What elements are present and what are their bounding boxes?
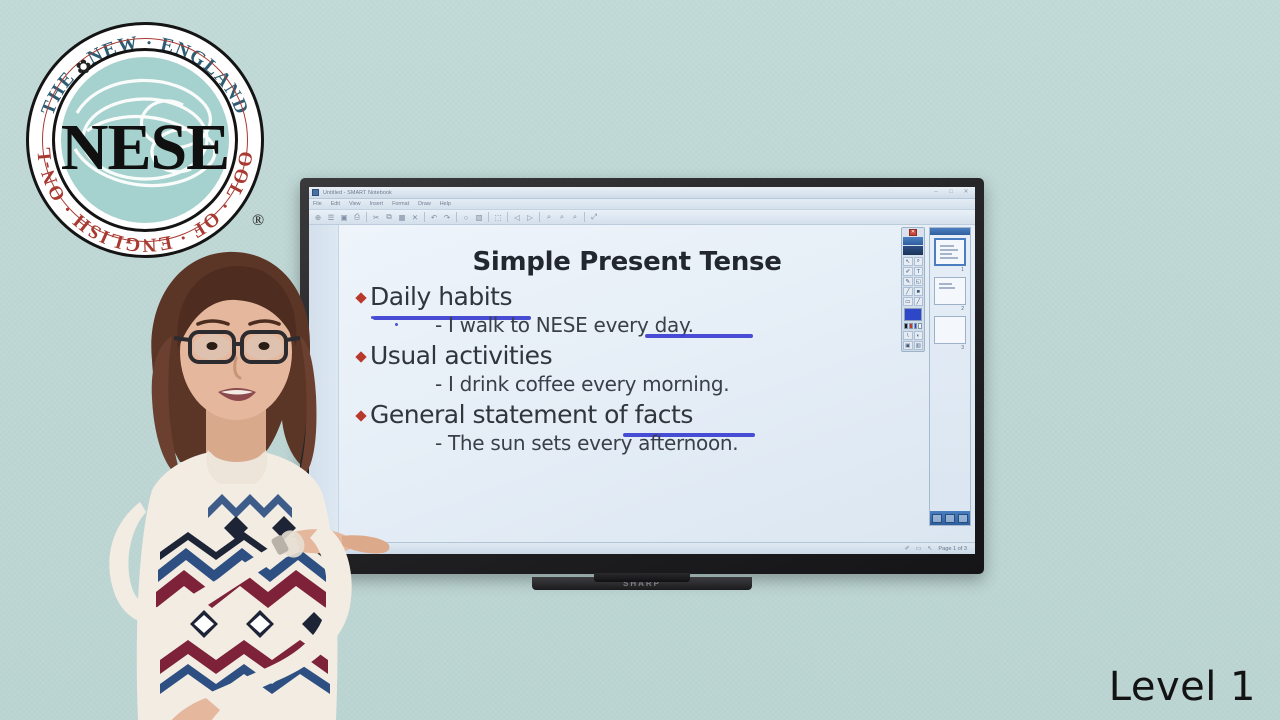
interactive-display: Untitled - SMART Notebook – □ ✕ File Edi… bbox=[300, 178, 984, 574]
toolbar-separator bbox=[539, 212, 540, 222]
diamond-bullet-icon bbox=[355, 410, 366, 421]
palette-tool-grid: ↖ ⌕ ✐ T ✎ ◱ ╱ ■ ▭ ╱ bbox=[903, 257, 923, 306]
display-screen: Untitled - SMART Notebook – □ ✕ File Edi… bbox=[309, 187, 975, 554]
menu-file[interactable]: File bbox=[313, 201, 322, 207]
redo-icon[interactable]: ↷ bbox=[441, 211, 453, 223]
menu-format[interactable]: Format bbox=[392, 201, 409, 207]
shape-tool[interactable]: ◱ bbox=[914, 277, 924, 286]
full-screen-icon[interactable]: ⤢ bbox=[588, 211, 600, 223]
level-caption: Level 1 bbox=[1109, 664, 1256, 710]
fill-tool[interactable]: ■ bbox=[914, 287, 924, 296]
toolbar-separator bbox=[507, 212, 508, 222]
paste-icon[interactable]: ▦ bbox=[396, 211, 408, 223]
attachments-button[interactable] bbox=[958, 514, 968, 523]
page-thumbnail-3[interactable] bbox=[934, 316, 966, 344]
page-sorter-panel[interactable]: 1 2 bbox=[929, 227, 971, 526]
work-area: Simple Present Tense Daily habits - I bbox=[309, 225, 975, 542]
opacity-tool[interactable]: ◐ bbox=[914, 331, 924, 340]
select-status-icon[interactable]: ↖ bbox=[927, 545, 932, 552]
print-icon[interactable]: ⎙ bbox=[351, 211, 363, 223]
highlighter-tool[interactable]: ╱ bbox=[903, 287, 913, 296]
pen-tool[interactable]: ✐ bbox=[903, 267, 913, 276]
bullet-example-3: - The sun sets every afternoon. bbox=[435, 431, 957, 455]
nese-logo: THE · NEW · ENGLAND SCHOOL · OF · ENGLIS… bbox=[26, 22, 266, 258]
screen-shade-icon[interactable]: ▧ bbox=[473, 211, 485, 223]
close-button[interactable]: ✕ bbox=[962, 189, 970, 196]
toolbar-separator bbox=[488, 212, 489, 222]
maximize-button[interactable]: □ bbox=[947, 189, 955, 196]
page-sorter-titlebar[interactable] bbox=[930, 228, 970, 235]
smart-notebook-window: Untitled - SMART Notebook – □ ✕ File Edi… bbox=[309, 187, 975, 554]
bullet-label-2: Usual activities bbox=[370, 342, 552, 370]
registered-trademark: ® bbox=[252, 212, 264, 230]
undo-icon[interactable]: ↶ bbox=[428, 211, 440, 223]
ink-underline-every-day bbox=[645, 334, 753, 338]
main-toolbar: ⊕ ☰ ▣ ⎙ ✂ ⧉ ▦ ✕ ↶ ↷ ○ ▧ bbox=[309, 210, 975, 225]
toolbar-separator bbox=[366, 212, 367, 222]
page-number-1: 1 bbox=[934, 266, 966, 273]
bullet-row-3: General statement of facts bbox=[351, 401, 957, 429]
current-color-swatch[interactable] bbox=[904, 308, 922, 321]
diamond-bullet-icon bbox=[355, 292, 366, 303]
bullet-row-1: Daily habits bbox=[351, 283, 957, 311]
window-title: Untitled - SMART Notebook bbox=[323, 190, 392, 196]
palette-extra-grid: \ ◐ ▣ ▥ bbox=[903, 331, 923, 350]
page-thumbnail-item[interactable]: 1 bbox=[930, 235, 970, 274]
bullet-label-3: General statement of facts bbox=[370, 401, 693, 429]
menubar: File Edit View Insert Format Draw Help bbox=[309, 199, 975, 210]
cut-icon[interactable]: ✂ bbox=[370, 211, 382, 223]
status-bar: ✐ ▭ ↖ Page 1 of 3 bbox=[309, 542, 975, 554]
page-thumbnail-item[interactable]: 2 bbox=[930, 274, 970, 313]
toolbar-separator bbox=[424, 212, 425, 222]
pen-status-icon[interactable]: ✐ bbox=[905, 545, 910, 552]
select-tool[interactable]: ↖ bbox=[903, 257, 913, 266]
copy-icon[interactable]: ⧉ bbox=[383, 211, 395, 223]
left-rail bbox=[309, 225, 339, 542]
slide-content: Simple Present Tense Daily habits - I bbox=[339, 225, 975, 542]
floating-tool-palette[interactable]: ✕ ↖ ⌕ ✐ T ✎ ◱ ╱ bbox=[901, 227, 925, 352]
window-titlebar[interactable]: Untitled - SMART Notebook – □ ✕ bbox=[309, 187, 975, 199]
page-thumbnail-2[interactable] bbox=[934, 277, 966, 305]
zoom-in-icon[interactable]: ⌕ bbox=[543, 211, 555, 223]
page-thumbnail-1[interactable] bbox=[934, 238, 966, 266]
gallery-button[interactable] bbox=[945, 514, 955, 523]
bullet-label-1: Daily habits bbox=[370, 283, 512, 311]
open-file-icon[interactable]: ☰ bbox=[325, 211, 337, 223]
thumb-preview-lines bbox=[940, 245, 960, 261]
toolbar-separator bbox=[584, 212, 585, 222]
swatch-red[interactable] bbox=[909, 323, 913, 329]
save-icon[interactable]: ▣ bbox=[338, 211, 350, 223]
line-tool[interactable]: ╱ bbox=[914, 297, 924, 306]
minimize-button[interactable]: – bbox=[932, 189, 940, 196]
app-icon bbox=[312, 189, 319, 196]
thumb-preview-lines bbox=[939, 283, 961, 291]
swatch-black[interactable] bbox=[904, 323, 908, 329]
swatch-white[interactable] bbox=[918, 323, 922, 329]
shape-icon[interactable]: ○ bbox=[460, 211, 472, 223]
menu-help[interactable]: Help bbox=[440, 201, 451, 207]
text-tool[interactable]: T bbox=[914, 267, 924, 276]
zoom-out-icon[interactable]: ⌕ bbox=[556, 211, 568, 223]
eraser-status-icon[interactable]: ▭ bbox=[916, 545, 922, 552]
diamond-bullet-icon bbox=[355, 351, 366, 362]
palette-preview bbox=[903, 246, 923, 255]
bullet-example-2: - I drink coffee every morning. bbox=[435, 372, 957, 396]
nese-wordmark: NESE bbox=[26, 115, 264, 181]
display-bezel: Untitled - SMART Notebook – □ ✕ File Edi… bbox=[300, 178, 984, 574]
capture-icon[interactable]: ⬚ bbox=[492, 211, 504, 223]
new-page-icon[interactable]: ⊕ bbox=[312, 211, 324, 223]
rosette-icon: ✿ bbox=[74, 58, 93, 77]
delete-icon[interactable]: ✕ bbox=[409, 211, 421, 223]
page-number-2: 2 bbox=[934, 305, 966, 312]
next-page-icon[interactable]: ▷ bbox=[524, 211, 536, 223]
page-sorter-button[interactable] bbox=[932, 514, 942, 523]
menu-draw[interactable]: Draw bbox=[418, 201, 431, 207]
display-stand bbox=[594, 573, 690, 582]
slide-title: Simple Present Tense bbox=[351, 247, 957, 277]
palette-close-icon[interactable]: ✕ bbox=[909, 229, 917, 236]
bullet-row-2: Usual activities bbox=[351, 342, 957, 370]
magnify-tool[interactable]: ⌕ bbox=[914, 257, 924, 266]
swatch-blue[interactable] bbox=[914, 323, 918, 329]
video-frame: THE · NEW · ENGLAND SCHOOL · OF · ENGLIS… bbox=[0, 0, 1280, 720]
slide-canvas[interactable]: Simple Present Tense Daily habits - I bbox=[339, 225, 975, 542]
menu-insert[interactable]: Insert bbox=[370, 201, 383, 207]
color-swatches bbox=[904, 323, 922, 329]
previous-page-icon[interactable]: ◁ bbox=[511, 211, 523, 223]
toolbar-separator bbox=[456, 212, 457, 222]
window-controls: – □ ✕ bbox=[932, 189, 972, 196]
eraser-tool[interactable]: ▭ bbox=[903, 297, 913, 306]
creative-pen-tool[interactable]: ✎ bbox=[903, 277, 913, 286]
page-sorter-tabs bbox=[930, 511, 970, 525]
ink-dot bbox=[371, 316, 374, 319]
palette-titlebar[interactable] bbox=[903, 237, 923, 245]
line-style-tool[interactable]: \ bbox=[903, 331, 913, 340]
page-thumbnail-item[interactable]: 3 bbox=[930, 313, 970, 352]
page-indicator: Page 1 of 3 bbox=[938, 546, 967, 552]
ink-dot bbox=[395, 323, 398, 326]
page-number-3: 3 bbox=[934, 344, 966, 351]
menu-edit[interactable]: Edit bbox=[331, 201, 340, 207]
zoom-fit-icon[interactable]: ⌕ bbox=[569, 211, 581, 223]
group-tool[interactable]: ▣ bbox=[903, 341, 913, 350]
clone-tool[interactable]: ▥ bbox=[914, 341, 924, 350]
menu-view[interactable]: View bbox=[349, 201, 361, 207]
